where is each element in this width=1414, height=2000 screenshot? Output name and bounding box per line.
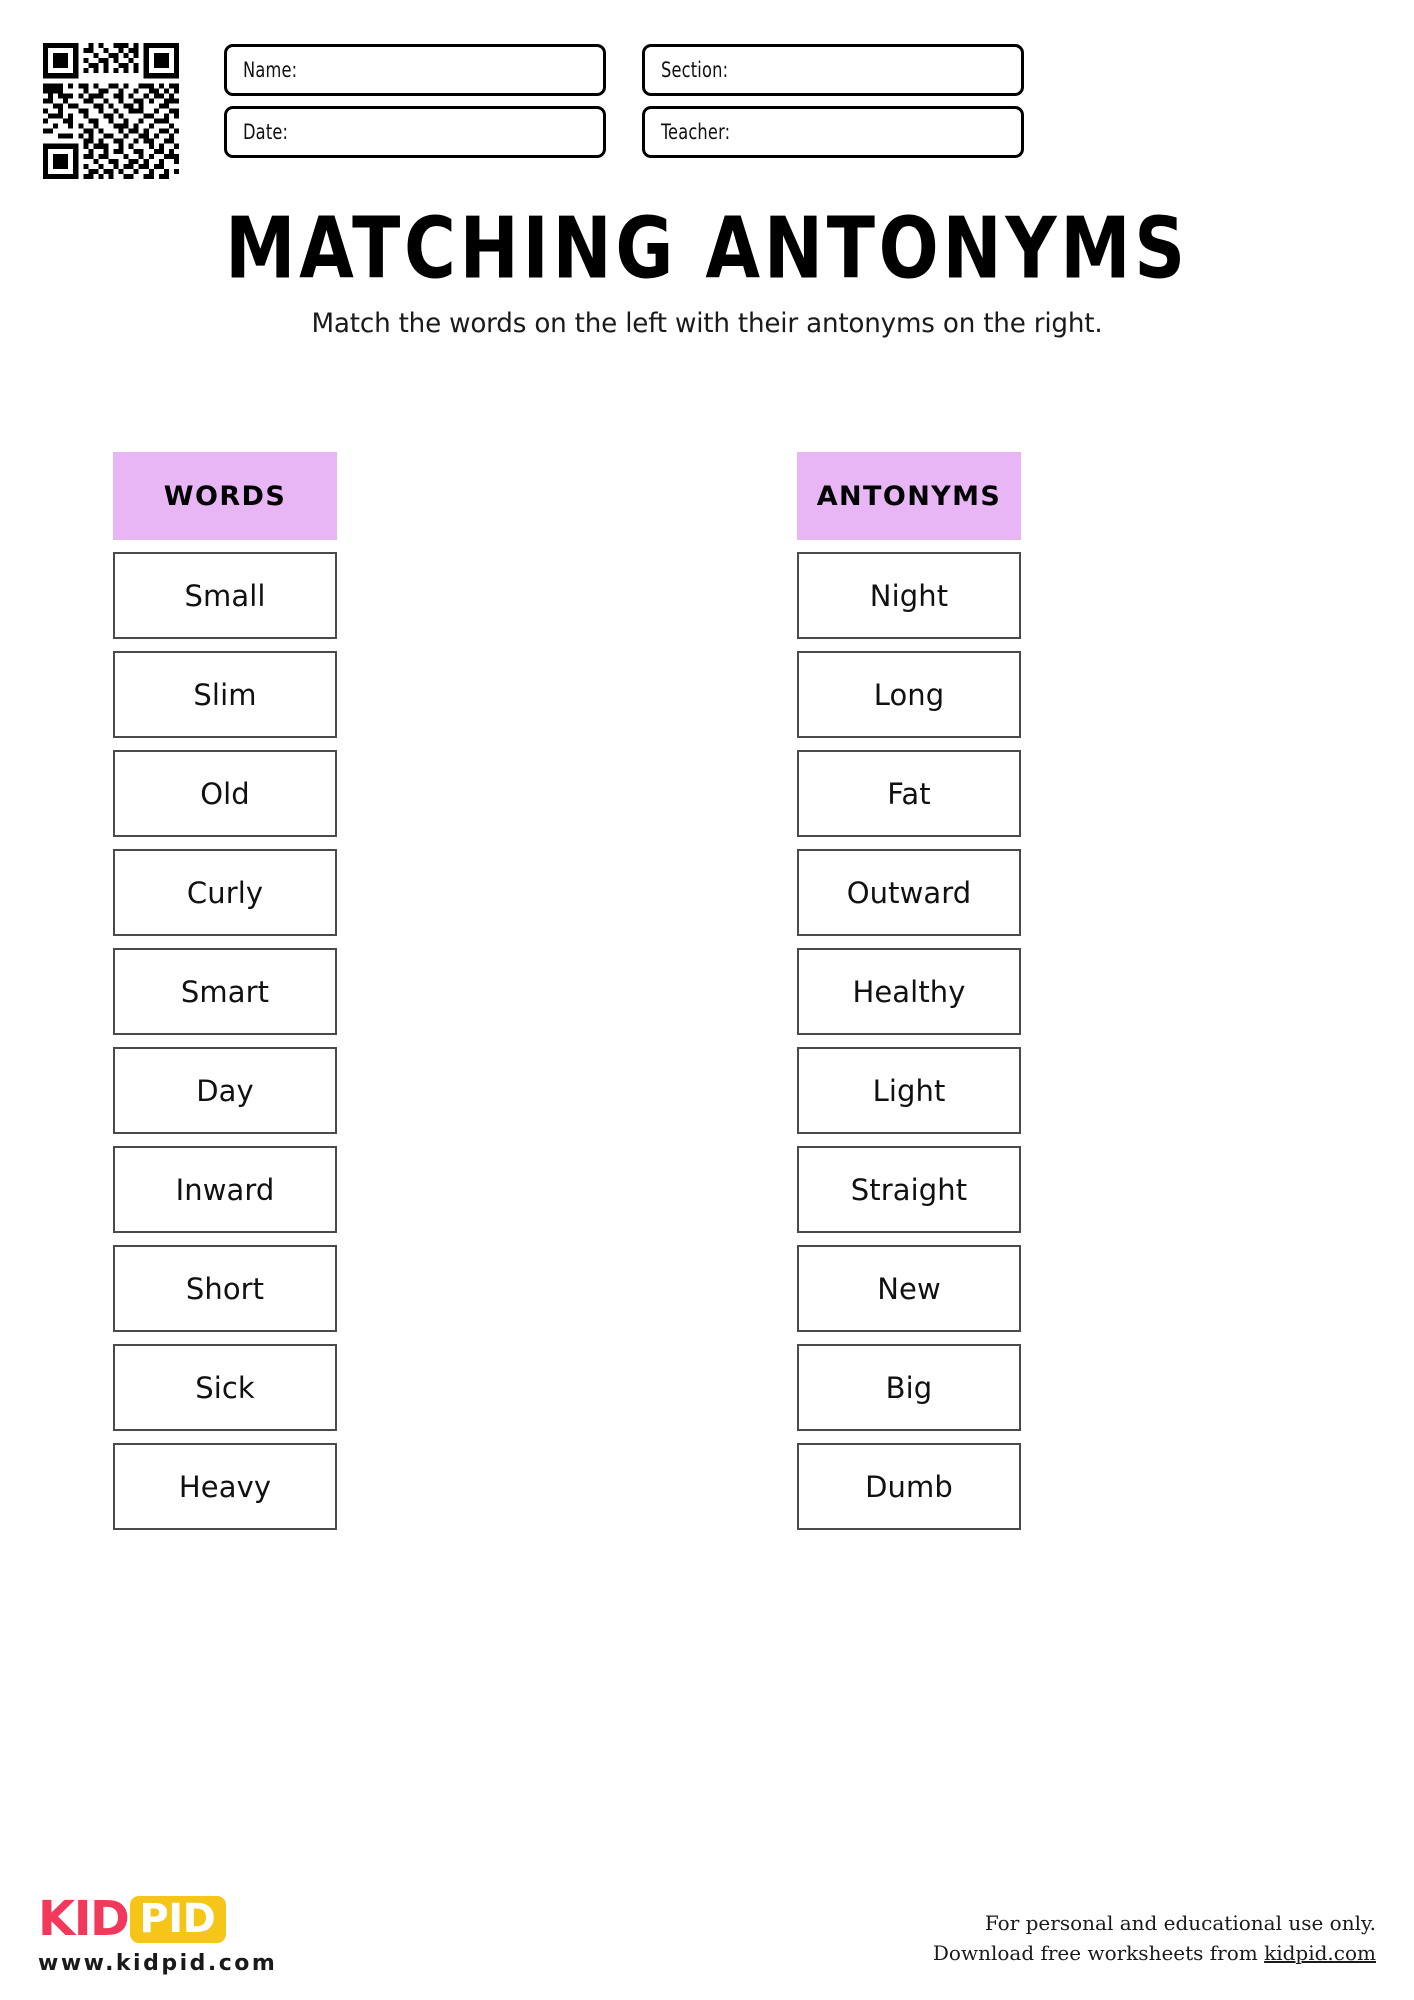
kidpid-logo-marks: KID PID [38, 1893, 298, 1945]
worksheet-page: Name: Section: Date: Teacher: MATCHING A… [0, 0, 1414, 2000]
qr-code-icon[interactable] [38, 38, 184, 184]
kidpid-link[interactable]: kidpid.com [1264, 1941, 1376, 1965]
title-block: MATCHING ANTONYMS Match the words on the… [0, 200, 1414, 339]
footer-notice: For personal and educational use only. D… [933, 1908, 1376, 1968]
logo-url-text: www.kidpid.com [38, 1951, 298, 1976]
kidpid-logo[interactable]: KID PID www.kidpid.com [38, 1893, 298, 1976]
antonym-label: Healthy [852, 975, 965, 1009]
name-field-label: Name: [243, 58, 297, 82]
word-label: Old [200, 777, 250, 811]
word-label: Small [184, 579, 265, 613]
antonym-label: Straight [851, 1173, 968, 1207]
name-field[interactable]: Name: [224, 44, 606, 96]
word-box[interactable]: Curly [113, 849, 337, 936]
page-title: MATCHING ANTONYMS [49, 200, 1364, 296]
word-box[interactable]: Small [113, 552, 337, 639]
antonym-label: Long [874, 678, 945, 712]
word-box[interactable]: Short [113, 1245, 337, 1332]
words-column-header: WORDS [113, 452, 337, 540]
word-label: Smart [181, 975, 269, 1009]
student-info-fields: Name: Section: Date: Teacher: [224, 44, 1384, 158]
word-label: Curly [187, 876, 263, 910]
logo-kid-text: KID [38, 1895, 128, 1943]
antonym-label: Night [870, 579, 948, 613]
antonym-box[interactable]: Night [797, 552, 1021, 639]
word-box[interactable]: Sick [113, 1344, 337, 1431]
logo-pid-text: PID [139, 1896, 215, 1942]
logo-pid-badge: PID [130, 1896, 226, 1943]
word-label: Slim [193, 678, 256, 712]
antonym-box[interactable]: New [797, 1245, 1021, 1332]
matching-columns: WORDS Small Slim Old Curly Smart Day Inw… [0, 452, 1414, 1732]
word-box[interactable]: Inward [113, 1146, 337, 1233]
antonym-label: Dumb [865, 1470, 953, 1504]
antonym-box[interactable]: Fat [797, 750, 1021, 837]
antonym-box[interactable]: Long [797, 651, 1021, 738]
teacher-field-label: Teacher: [661, 120, 730, 144]
antonym-label: Light [873, 1074, 946, 1108]
antonyms-column-header: ANTONYMS [797, 452, 1021, 540]
antonyms-column: ANTONYMS Night Long Fat Outward Healthy … [797, 452, 1021, 1542]
words-column-header-label: WORDS [164, 481, 286, 512]
word-box[interactable]: Day [113, 1047, 337, 1134]
worksheet-footer: KID PID www.kidpid.com For personal and … [0, 1850, 1414, 2000]
footer-notice-line-one: For personal and educational use only. [933, 1908, 1376, 1938]
footer-notice-prefix: Download free worksheets from [933, 1941, 1264, 1965]
teacher-field[interactable]: Teacher: [642, 106, 1024, 158]
antonym-box[interactable]: Big [797, 1344, 1021, 1431]
word-box[interactable]: Old [113, 750, 337, 837]
page-subtitle: Match the words on the left with their a… [21, 308, 1393, 339]
word-label: Day [196, 1074, 254, 1108]
words-column: WORDS Small Slim Old Curly Smart Day Inw… [113, 452, 337, 1542]
worksheet-header: Name: Section: Date: Teacher: [0, 38, 1414, 198]
antonym-label: Big [886, 1371, 933, 1405]
word-box[interactable]: Heavy [113, 1443, 337, 1530]
date-field[interactable]: Date: [224, 106, 606, 158]
antonym-label: Outward [847, 876, 972, 910]
word-box[interactable]: Smart [113, 948, 337, 1035]
word-label: Heavy [179, 1470, 271, 1504]
antonym-label: Fat [887, 777, 930, 811]
antonym-box[interactable]: Straight [797, 1146, 1021, 1233]
word-box[interactable]: Slim [113, 651, 337, 738]
word-label: Short [186, 1272, 264, 1306]
antonym-box[interactable]: Healthy [797, 948, 1021, 1035]
antonym-box[interactable]: Light [797, 1047, 1021, 1134]
section-field[interactable]: Section: [642, 44, 1024, 96]
antonym-box[interactable]: Outward [797, 849, 1021, 936]
word-label: Inward [176, 1173, 275, 1207]
antonyms-column-header-label: ANTONYMS [817, 481, 1002, 512]
antonym-label: New [877, 1272, 941, 1306]
footer-notice-line-two: Download free worksheets from kidpid.com [933, 1938, 1376, 1968]
section-field-label: Section: [661, 58, 728, 82]
antonym-box[interactable]: Dumb [797, 1443, 1021, 1530]
word-label: Sick [195, 1371, 255, 1405]
date-field-label: Date: [243, 120, 288, 144]
